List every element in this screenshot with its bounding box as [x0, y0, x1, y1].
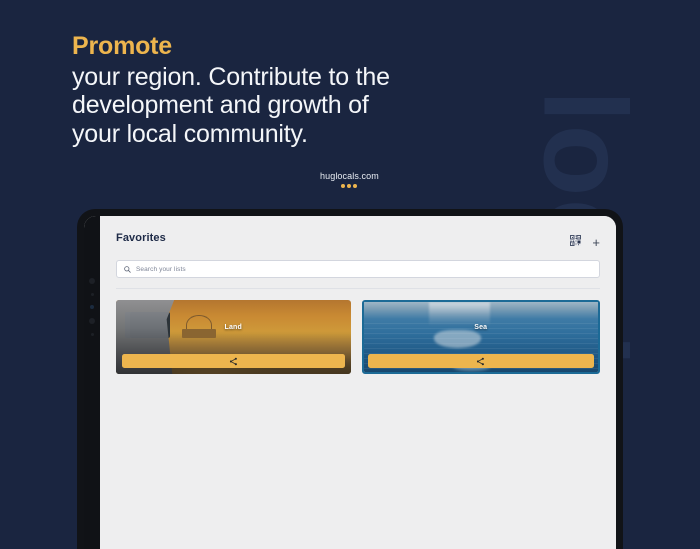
rail-dot-icon[interactable] [91, 333, 94, 336]
rail-dot-icon[interactable] [89, 278, 95, 284]
headline-body: your region. Contribute to the developme… [72, 63, 402, 149]
app-side-rail[interactable] [84, 216, 100, 549]
app-content: Favorites [100, 216, 616, 549]
favorite-card-sea[interactable]: Sea [362, 300, 601, 374]
share-button[interactable] [122, 354, 345, 368]
tablet-screen: Favorites [84, 216, 616, 549]
add-icon[interactable]: + [592, 236, 600, 249]
rail-dot-icon[interactable] [90, 305, 94, 309]
rail-dot-icon[interactable] [89, 318, 95, 324]
search-bar-container: Search your lists [100, 251, 616, 289]
share-button[interactable] [368, 354, 595, 368]
tablet-device-mockup: Favorites [77, 209, 623, 549]
card-label: Sea [364, 324, 599, 331]
app-header: Favorites [100, 216, 616, 251]
favorite-card-land[interactable]: Land [116, 300, 351, 374]
headline-accent-word: Promote [72, 32, 402, 61]
brand-dots [320, 184, 379, 188]
brand-dot [353, 184, 357, 188]
rail-dot-icon[interactable] [91, 293, 94, 296]
search-input[interactable]: Search your lists [116, 260, 600, 278]
search-placeholder: Search your lists [136, 266, 186, 273]
brand-dot [341, 184, 345, 188]
page-title: Favorites [116, 232, 166, 244]
brand-logo: huglocals.com [320, 172, 379, 188]
boat-hull-shape [434, 330, 481, 348]
qr-code-icon[interactable] [570, 233, 581, 251]
brand-name: huglocals.com [320, 172, 379, 181]
share-icon [476, 357, 485, 366]
header-actions: + [570, 232, 600, 251]
card-label: Land [116, 324, 351, 331]
favorites-card-list: Land [100, 289, 616, 374]
brand-dot [347, 184, 351, 188]
headline: Promote your region. Contribute to the d… [72, 32, 402, 148]
search-icon [124, 266, 131, 273]
share-icon [229, 357, 238, 366]
